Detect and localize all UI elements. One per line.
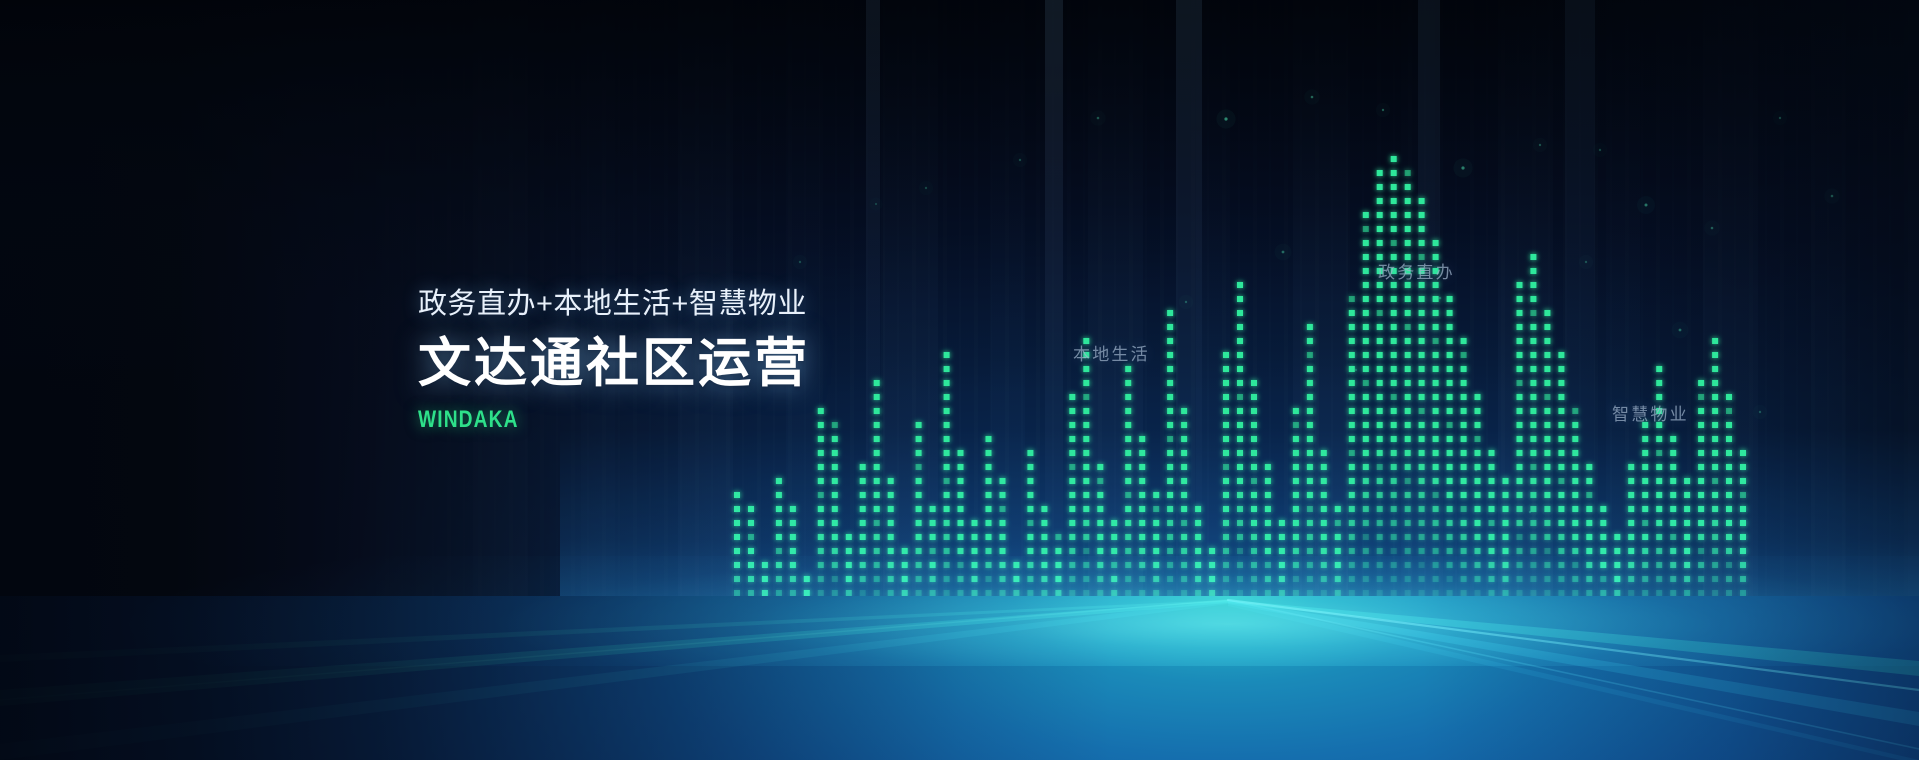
page-title: 文达通社区运营 [418, 335, 1118, 393]
brand-wordmark: WINDAKA [418, 406, 978, 434]
chart-label-gov-service: 政务直办 [1378, 258, 1455, 283]
chart-label-smart-property: 智慧物业 [1612, 400, 1689, 425]
hero-banner: 本地生活 政务直办 智慧物业 政务直办+本地生活+智慧物业 文达通社区运营 WI… [0, 0, 1919, 760]
subtitle-text: 政务直办+本地生活+智慧物业 [418, 288, 1118, 321]
headline-block: 政务直办+本地生活+智慧物业 文达通社区运营 WINDAKA [418, 288, 1118, 434]
floor-right-vignette [0, 596, 1919, 760]
